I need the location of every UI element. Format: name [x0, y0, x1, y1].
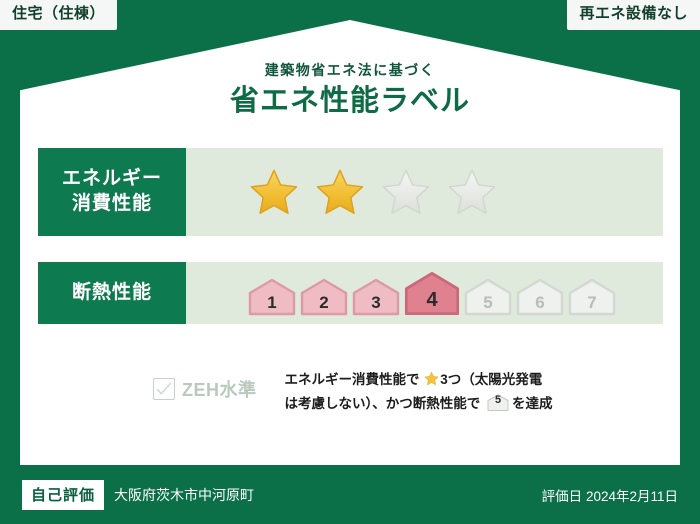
tag-building-type: 住宅（住棟）: [0, 0, 117, 30]
evaluation-date: 評価日 2024年2月11日: [542, 485, 678, 505]
insulation-level-5: 5: [464, 278, 512, 316]
zeh-label: ZEH水準: [182, 376, 257, 402]
zeh-checkbox-icon: [153, 378, 175, 400]
row-energy-label-line2: 消費性能: [72, 192, 152, 217]
zeh-description: エネルギー消費性能で 3つ（太陽光発電 は考慮しない）、かつ断熱性能で 5 を達…: [285, 368, 553, 415]
evaluation-date-value: 2024年2月11日: [586, 489, 678, 504]
insulation-level-3: 3: [352, 278, 400, 316]
star-icon-filled: [248, 167, 300, 217]
row-insulation-label: 断熱性能: [38, 262, 186, 324]
inline-insulation-chip-icon: 5: [487, 394, 509, 411]
evaluation-type-badge: 自己評価: [22, 480, 104, 510]
evaluation-date-label: 評価日: [542, 489, 583, 504]
property-address: 大阪府茨木市中河原町: [114, 485, 254, 505]
zeh-description-line1: エネルギー消費性能で 3つ（太陽光発電: [285, 368, 553, 392]
zeh-desc-text-4: を達成: [512, 396, 553, 411]
star-icon-empty: [380, 167, 432, 217]
zeh-description-line2: は考慮しない）、かつ断熱性能で 5 を達成: [285, 392, 553, 416]
star-rating: [186, 148, 663, 236]
footer-bar: 自己評価 大阪府茨木市中河原町 評価日 2024年2月11日: [0, 465, 700, 524]
insulation-level-7: 7: [568, 278, 616, 316]
insulation-level-4: 4: [404, 271, 460, 316]
zeh-desc-text-3: は考慮しない）、かつ断熱性能で: [285, 396, 481, 411]
zeh-desc-text-2: 3つ（太陽光発電: [440, 372, 542, 387]
row-energy-label: エネルギー 消費性能: [38, 148, 186, 236]
inline-chip-value: 5: [487, 391, 509, 410]
row-energy-performance: エネルギー 消費性能: [38, 148, 663, 236]
zeh-mark: ZEH水準: [153, 376, 257, 402]
row-energy-label-line1: エネルギー: [62, 167, 162, 192]
insulation-level-1: 1: [248, 278, 296, 316]
insulation-level-6: 6: [516, 278, 564, 316]
tag-renewable-energy: 再エネ設備なし: [567, 0, 700, 30]
star-icon-empty: [446, 167, 498, 217]
row-insulation-label-text: 断熱性能: [72, 281, 152, 306]
insulation-level-2: 2: [300, 278, 348, 316]
zeh-section: ZEH水準 エネルギー消費性能で 3つ（太陽光発電 は考慮しない）、かつ断熱性能…: [38, 368, 663, 415]
inline-star-icon: [424, 371, 439, 386]
energy-label-root: 住宅（住棟） 再エネ設備なし 建築物省エネ法に基づく 省エネ性能ラベル エネルギ…: [0, 0, 700, 524]
page-title: 省エネ性能ラベル: [0, 85, 700, 118]
title-block: 建築物省エネ法に基づく 省エネ性能ラベル: [0, 62, 700, 118]
row-insulation-performance: 断熱性能 1234567: [38, 262, 663, 324]
insulation-level-scale: 1234567: [248, 271, 616, 316]
star-icon-filled: [314, 167, 366, 217]
zeh-desc-text-1: エネルギー消費性能で: [285, 372, 420, 387]
label-subtitle: 建築物省エネ法に基づく: [0, 62, 700, 79]
